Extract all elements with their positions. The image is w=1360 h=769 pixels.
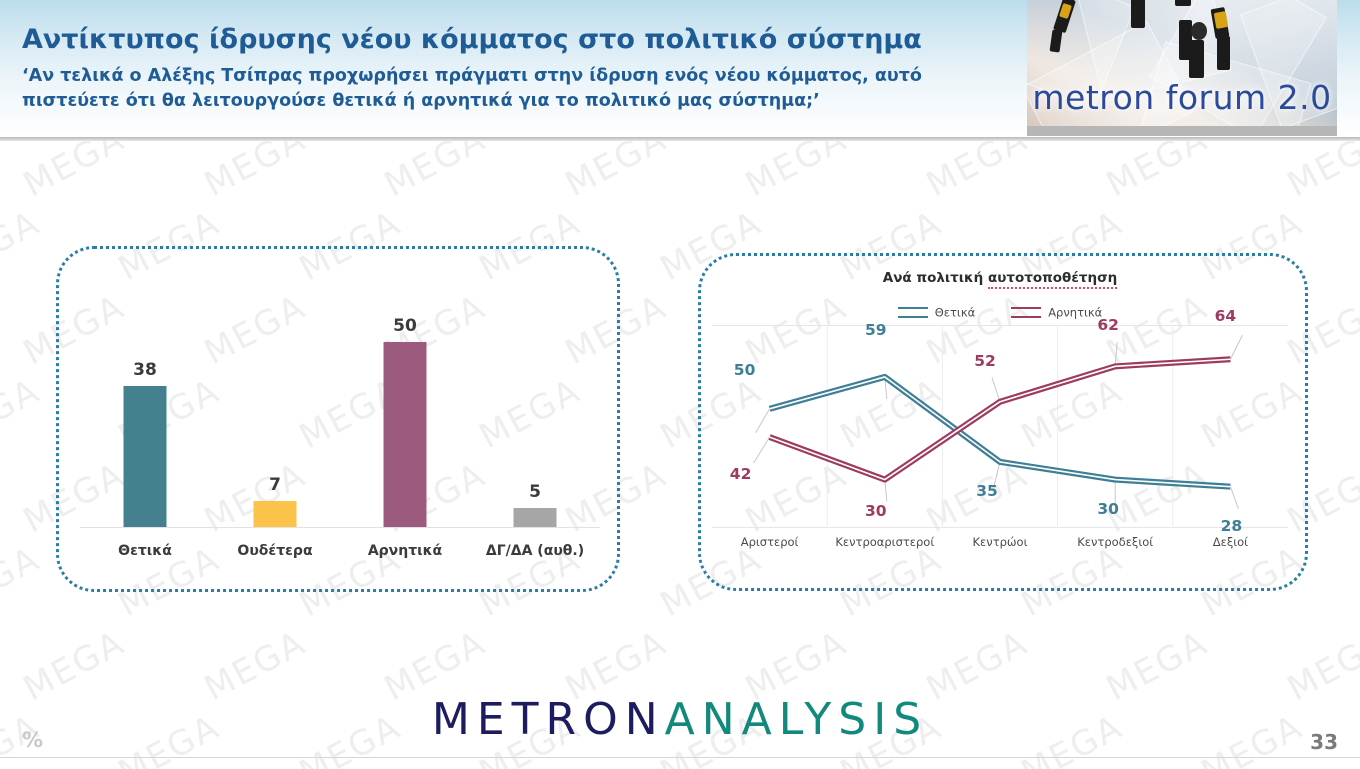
data-point-label: 62 (1095, 316, 1121, 334)
page-number: 33 (1310, 730, 1338, 754)
slide: MEGAMEGAMEGAMEGAMEGAMEGAMEGAMEGAMEGAMEGA… (0, 0, 1360, 769)
overall-bar-chart: 38Θετικά7Ουδέτερα50Αρνητικά5ΔΓ/ΔΑ (αυθ.) (56, 246, 614, 586)
logo-bottom-bar (1027, 126, 1337, 136)
data-point-label: 59 (863, 321, 889, 339)
line-chart-x-axis: ΑριστεροίΚεντροαριστεροίΚεντρώοιΚεντροδε… (712, 535, 1288, 557)
metron-analysis-logo: METRONANALYSIS (0, 694, 1360, 745)
page-subtitle: ‘Αν τελικά ο Αλέξης Τσίπρας προχωρήσει π… (22, 64, 1012, 115)
bar-category-label: Θετικά (80, 543, 210, 559)
data-point-label: 50 (732, 361, 758, 379)
bar-rect (514, 508, 557, 527)
x-axis-label: Αριστεροί (712, 535, 827, 557)
header-divider (0, 137, 1360, 141)
brand-analysis: ANALYSIS (665, 694, 929, 745)
data-point-label: 52 (972, 352, 998, 370)
line-chart-title-plain: Ανά πολιτική (883, 270, 988, 286)
footer-divider (0, 757, 1360, 758)
bar-chart-baseline (80, 527, 600, 528)
bar-category-label: Αρνητικά (340, 543, 470, 559)
legend-label: Θετικά (935, 306, 975, 320)
bar-rect (384, 342, 427, 527)
bar-rect (254, 501, 297, 527)
line-chart-legend: ΘετικάΑρνητικά (698, 305, 1302, 320)
data-line-Θετικά (770, 377, 1231, 487)
page-title: Αντίκτυπος ίδρυσης νέου κόμματος στο πολ… (22, 24, 922, 55)
legend-swatch (1011, 307, 1041, 318)
legend-label: Αρνητικά (1048, 306, 1102, 320)
line-chart-plot-area (712, 325, 1288, 528)
percent-unit-label: % (22, 728, 43, 752)
watermark-text: MEGA (0, 183, 57, 308)
data-point-label: 35 (974, 482, 1000, 500)
line-chart-svg (712, 325, 1288, 528)
data-point-label: 42 (728, 465, 754, 483)
logo-text: metron forum 2.0 (1027, 78, 1337, 117)
brand-metron: METRON (432, 694, 665, 745)
data-point-label: 28 (1218, 517, 1244, 535)
bar-value-label: 50 (340, 316, 470, 336)
watermark-text: MEGA (0, 351, 57, 476)
legend-item: Θετικά (898, 305, 975, 320)
data-point-label: 64 (1212, 307, 1238, 325)
metron-forum-logo: metron forum 2.0 (1027, 0, 1337, 130)
line-chart-title: Ανά πολιτική αυτοτοποθέτηση (698, 270, 1302, 286)
x-axis-label: Κεντροδεξιοί (1058, 535, 1173, 557)
bar-value-label: 38 (80, 360, 210, 380)
bar-rect (124, 386, 167, 527)
bar-value-label: 5 (470, 482, 600, 502)
legend-swatch (898, 307, 928, 318)
data-point-label: 30 (863, 502, 889, 520)
x-axis-label: Κεντρώοι (942, 535, 1057, 557)
political-selfplacement-line-chart: Ανά πολιτική αυτοτοποθέτηση ΘετικάΑρνητι… (698, 253, 1302, 585)
bar-value-label: 7 (210, 475, 340, 495)
line-chart-title-spellcheck: αυτοτοποθέτηση (988, 270, 1117, 289)
x-axis-label: Κεντροαριστεροί (827, 535, 942, 557)
data-point-label: 30 (1095, 500, 1121, 518)
x-axis-label: Δεξιοί (1173, 535, 1288, 557)
watermark-text: MEGA (0, 519, 57, 644)
bar-category-label: Ουδέτερα (210, 543, 340, 559)
legend-item: Αρνητικά (1011, 305, 1102, 320)
bar-category-label: ΔΓ/ΔΑ (αυθ.) (470, 543, 600, 559)
